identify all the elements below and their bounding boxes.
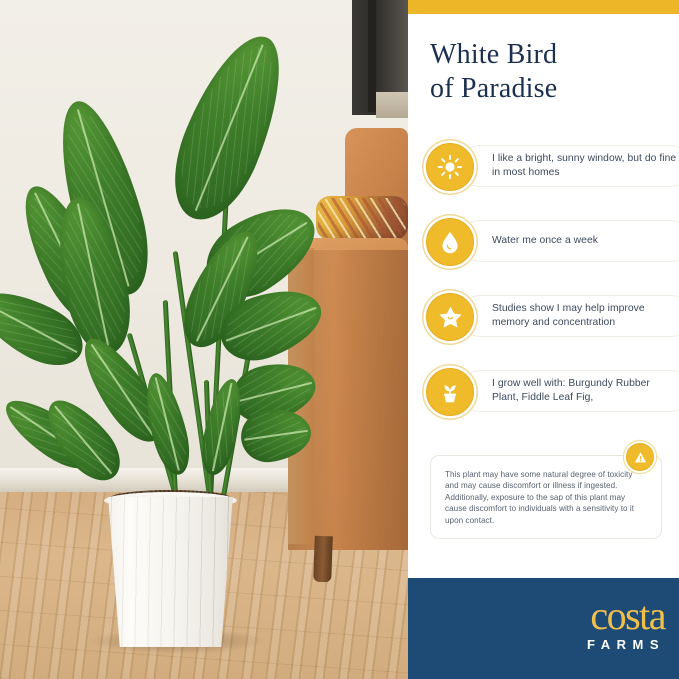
care-text-water-pill: Water me once a week [459, 220, 679, 262]
product-infographic-card: White Bird of Paradise [0, 0, 679, 679]
plant-pot [98, 497, 243, 647]
title-line-1: White Bird [430, 38, 660, 72]
care-row-companions: I grow well with: Burgundy Rubber Plant,… [426, 368, 676, 414]
brand-footer: costa FARMS [408, 578, 679, 679]
care-text-benefit: Studies show I may help improve memory a… [492, 302, 677, 330]
care-text-benefit-pill: Studies show I may help improve memory a… [459, 295, 679, 337]
water-drop-icon [426, 218, 474, 266]
potted-plant-icon [426, 368, 474, 416]
care-row-benefit: Studies show I may help improve memory a… [426, 293, 676, 339]
doorway-light [376, 92, 408, 118]
care-text-companions-pill: I grow well with: Burgundy Rubber Plant,… [459, 370, 679, 412]
door-frame-edge [368, 0, 376, 112]
toxicity-warning: This plant may have some natural degree … [430, 455, 662, 539]
care-text-light: I like a bright, sunny window, but do fi… [492, 152, 677, 180]
sofa-pillow [316, 196, 408, 240]
product-photo [0, 0, 408, 679]
top-accent-bar [408, 0, 679, 14]
sun-icon [426, 143, 474, 191]
warning-icon [626, 443, 654, 471]
title-line-2: of Paradise [430, 72, 660, 106]
care-text-water: Water me once a week [492, 234, 598, 248]
care-row-light: I like a bright, sunny window, but do fi… [426, 143, 676, 189]
logo-wordmark: costa [581, 596, 665, 636]
warning-text: This plant may have some natural degree … [445, 469, 647, 526]
sofa-leg [313, 536, 333, 583]
care-text-light-pill: I like a bright, sunny window, but do fi… [459, 145, 679, 187]
warning-box: This plant may have some natural degree … [430, 455, 662, 539]
care-instruction-list: I like a bright, sunny window, but do fi… [426, 143, 676, 443]
logo-subtext: FARMS [581, 637, 665, 652]
care-text-companions: I grow well with: Burgundy Rubber Plant,… [492, 377, 677, 405]
care-row-water: Water me once a week [426, 218, 676, 264]
star-icon [426, 293, 474, 341]
page-title: White Bird of Paradise [430, 38, 660, 106]
costa-farms-logo: costa FARMS [581, 596, 665, 652]
